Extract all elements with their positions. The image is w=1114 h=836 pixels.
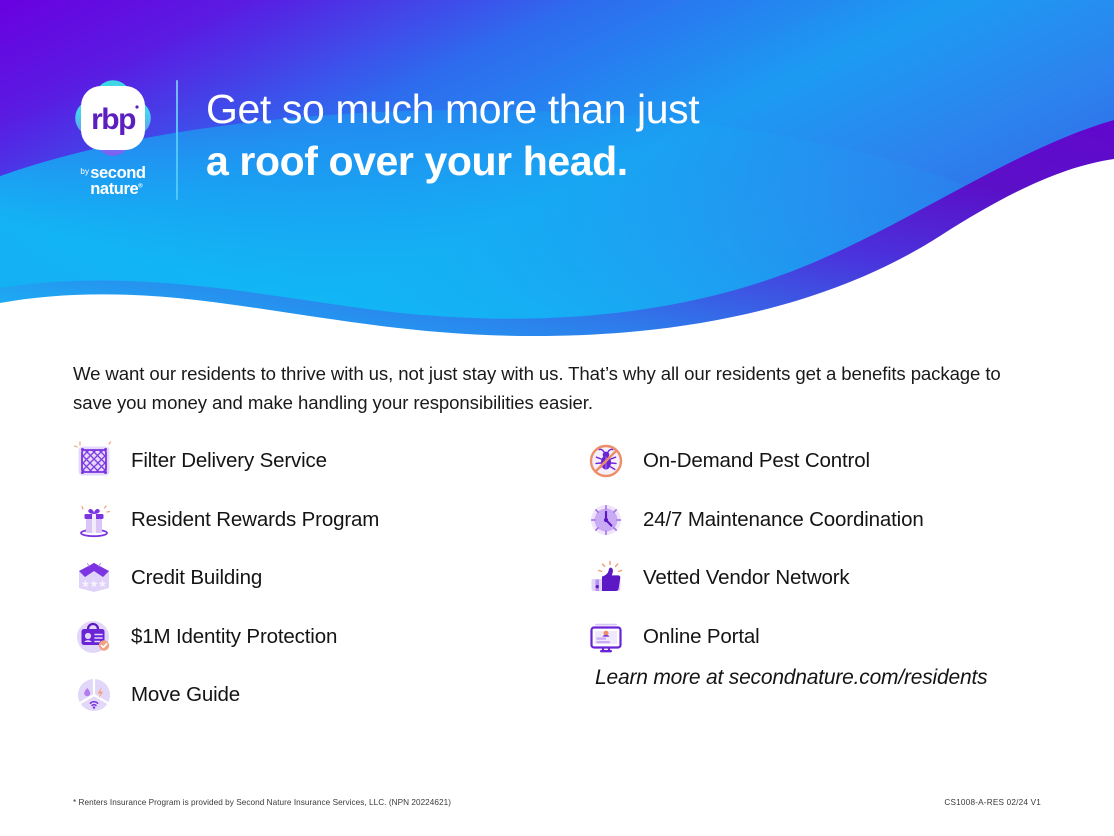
air-filter-icon [73,440,115,482]
logo-company-line2: nature [90,180,138,198]
benefits-column-right: On-Demand Pest Control [585,432,1055,666]
hero-headline: Get so much more than just a roof over y… [206,84,1046,187]
benefits-column-left: Filter Delivery Service Resident Rewards… [73,432,573,725]
benefit-item-maintenance-coordination: 24/7 Maintenance Coordination [585,491,1055,550]
headline-line-2: a roof over your head. [206,136,1046,188]
benefit-item-identity-protection: $1M Identity Protection [73,608,573,667]
benefit-item-pest-control: On-Demand Pest Control [585,432,1055,491]
logo-by-text: by [80,168,89,176]
hero-banner: rbp bysecondnature® Get so much more tha… [0,0,1114,336]
benefit-label: Resident Rewards Program [131,508,379,532]
intro-paragraph: We want our residents to thrive with us,… [73,360,1023,418]
rbp-badge-icon: rbp [67,72,159,164]
hero-vertical-divider [176,80,178,200]
footer-document-code: CS1008-A-RES 02/24 V1 [944,798,1041,807]
benefit-label: Vetted Vendor Network [643,566,850,590]
main-content: We want our residents to thrive with us,… [0,336,1114,776]
benefit-item-vetted-vendor-network: Vetted Vendor Network [585,549,1055,608]
monitor-icon [585,616,627,658]
footer-disclaimer: * Renters Insurance Program is provided … [73,798,451,807]
benefit-label: On-Demand Pest Control [643,449,870,473]
thumbs-up-icon [585,557,627,599]
benefit-label: Credit Building [131,566,262,590]
benefit-label: Filter Delivery Service [131,449,327,473]
no-pest-icon [585,440,627,482]
headline-line-1: Get so much more than just [206,84,1046,136]
learn-more-text[interactable]: Learn more at secondnature.com/residents [595,666,987,690]
benefit-label: Online Portal [643,625,760,649]
benefit-item-resident-rewards-program: Resident Rewards Program [73,491,573,550]
benefit-label: $1M Identity Protection [131,625,337,649]
credit-badge-icon [73,557,115,599]
benefit-item-credit-building: Credit Building [73,549,573,608]
benefit-item-move-guide: Move Guide [73,666,573,725]
utilities-pie-icon [73,674,115,716]
benefit-item-online-portal: Online Portal [585,608,1055,667]
svg-text:rbp: rbp [91,103,136,136]
rbp-logo-lockup: rbp bysecondnature® [62,72,164,200]
gift-icon [73,499,115,541]
id-shield-icon [73,616,115,658]
clock-icon [585,499,627,541]
benefit-item-filter-delivery-service: Filter Delivery Service [73,432,573,491]
logo-by-second-nature: bysecondnature® [62,166,164,198]
benefit-label: 24/7 Maintenance Coordination [643,508,924,532]
benefit-label: Move Guide [131,683,240,707]
rbp-logo-mark: rbp [67,72,159,164]
